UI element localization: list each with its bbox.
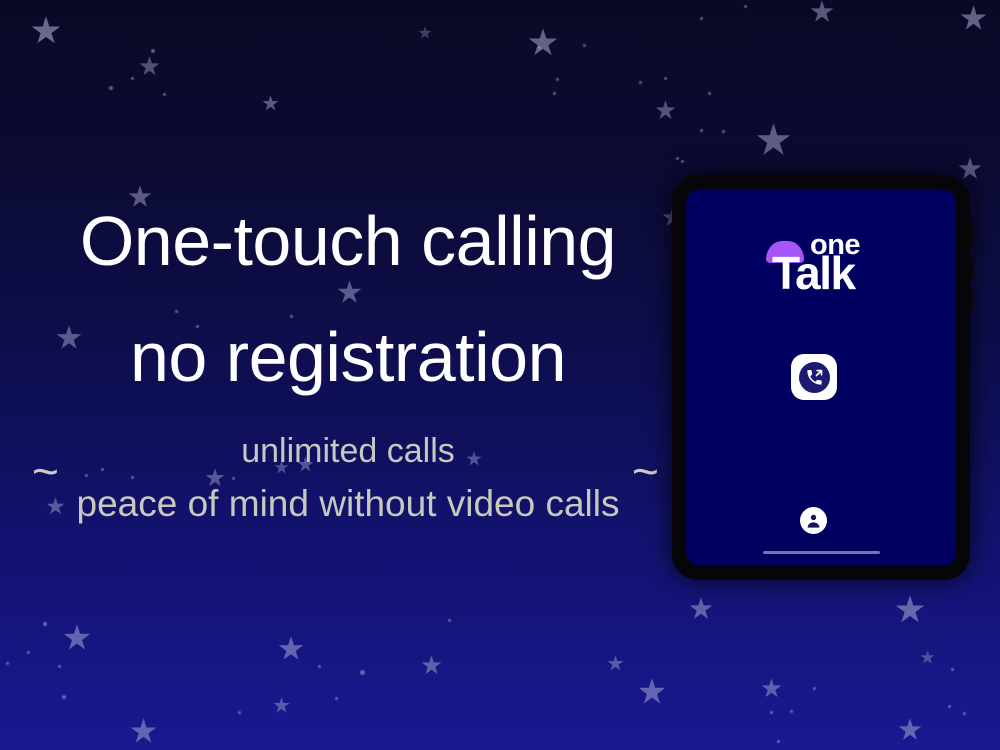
hero-screen: One-touch calling no registration unlimi… (0, 0, 1000, 750)
star-dot-icon (963, 712, 966, 715)
star-icon (810, 0, 834, 24)
star-dot-icon (744, 5, 747, 8)
device-side-button-volume-up[interactable] (969, 221, 973, 245)
hero-headline-line-2: no registration (8, 322, 688, 392)
star-dot-icon (951, 668, 954, 671)
star-icon (960, 5, 987, 32)
hero-subline-unlimited-calls: unlimited calls (8, 434, 688, 468)
star-dot-icon (700, 129, 703, 132)
user-avatar-icon (804, 511, 823, 530)
hero-subline-peace-of-mind: peace of mind without video calls (8, 485, 688, 522)
star-dot-icon (948, 705, 951, 708)
star-dot-icon (813, 687, 816, 690)
star-dot-icon (770, 711, 773, 714)
phone-outgoing-icon (799, 362, 830, 393)
star-icon (920, 650, 935, 665)
logo-word-talk: Talk (772, 250, 855, 296)
tablet-device-mockup: one Talk (672, 175, 970, 580)
tilde-right-decoration: ~ (632, 448, 659, 494)
hero-headline-line-1: One-touch calling (8, 206, 688, 276)
star-icon (895, 595, 925, 625)
device-side-button-volume-down[interactable] (969, 255, 973, 279)
tilde-left-decoration: ~ (32, 448, 59, 494)
star-dot-icon (722, 130, 725, 133)
star-dot-icon (777, 740, 780, 743)
star-dot-icon (790, 710, 793, 713)
onetalk-logo: one Talk (686, 233, 956, 303)
home-indicator (763, 551, 880, 554)
star-icon (958, 157, 982, 181)
star-dot-icon (700, 17, 703, 20)
device-side-button-power[interactable] (969, 287, 973, 311)
star-icon (898, 718, 922, 742)
hero-copy-block: One-touch calling no registration unlimi… (0, 0, 680, 750)
device-screen: one Talk (686, 189, 956, 566)
star-icon (756, 123, 791, 158)
call-button[interactable] (791, 354, 837, 400)
avatar-button[interactable] (800, 507, 827, 534)
star-dot-icon (708, 92, 711, 95)
star-icon (689, 597, 713, 621)
star-icon (761, 678, 782, 699)
star-dot-icon (681, 160, 684, 163)
